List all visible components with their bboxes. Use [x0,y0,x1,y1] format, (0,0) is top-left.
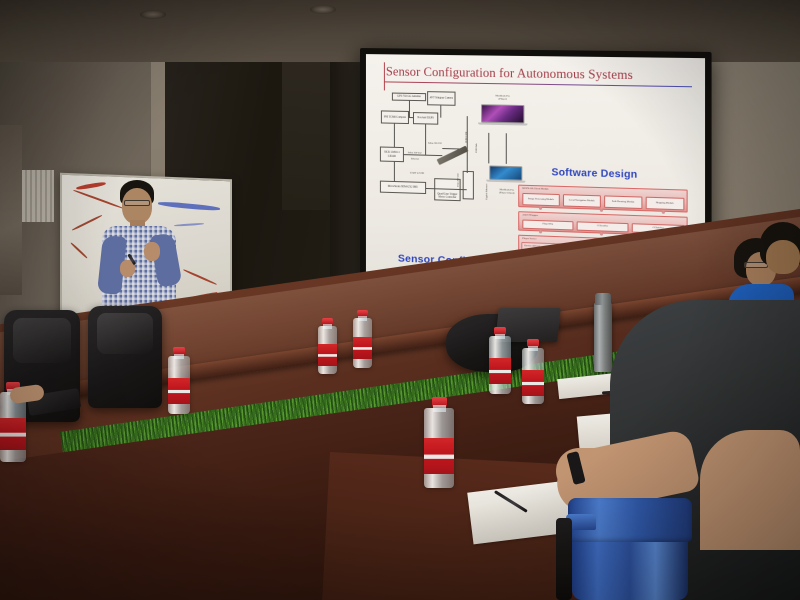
layer-title: MATLAB Client Module [522,187,548,191]
bottle-label [424,438,454,474]
laptop-base [478,123,528,126]
macbook-pro-player-client [489,165,522,186]
link-label: UART to USB [410,171,424,174]
slide-title: Sensor Configuration for Autonomous Syst… [386,64,633,83]
bottle-label [522,370,544,396]
layer-connector-dot [600,209,603,212]
wall-stain [0,125,22,295]
link-label: Dlink RS-232 [457,173,460,187]
link-label: Ethernet [411,157,419,160]
presenter-glasses [124,200,150,206]
blue-tumbler[interactable] [572,508,688,600]
diagram-box-dgps: NovAtel DGPS [413,112,438,125]
diagram-box-aux [463,171,474,200]
water-bottle[interactable] [522,348,544,404]
link-label: USB Hub [475,143,478,153]
layer-connector-dot [539,230,542,233]
connector [394,124,395,147]
layer-matlab-client-module: MATLAB Client Module Image Processing Mo… [518,185,687,213]
connector-arrow [488,133,489,164]
presenter-head [122,188,152,224]
link-label: IEEE 1394 [465,132,468,143]
connector [404,154,442,156]
laptop-label-line2: (Player) [499,97,507,100]
layer-connector-dot [662,211,665,214]
water-bottle[interactable] [168,356,190,414]
attendee-foreground-arm-lower [700,430,800,550]
diagram-box-compass: PNI TCM6 Compass [381,110,409,124]
module-image-processing: Image Processing Module [522,193,560,206]
diagram-box-lidar: SICK LMS111 LIDAR [380,146,404,162]
module-cclientser: CClientSer [577,221,629,232]
connector-arrow [506,133,507,164]
tumbler-strap [556,518,572,600]
link-label-text: USB Hub [475,143,478,153]
connector [440,106,441,118]
connector [409,117,413,118]
layer-connector-dot [600,232,603,235]
ceiling-downlight [140,10,166,19]
connector [467,116,468,173]
presenter-right-hand [144,242,160,261]
water-bottle[interactable] [318,326,337,374]
bottle-label [318,344,337,366]
water-bottle[interactable] [353,318,372,368]
software-design-caption: Software Design [551,167,637,181]
ceiling-downlight [310,5,336,14]
laptop-screen [481,104,524,123]
layer-connector-dot [539,207,542,210]
module-mapping: Mapping Module [646,197,685,211]
module-local-navigation: Local Navigation Module [563,194,601,208]
layer-title: JAUS Wrapper [522,214,538,218]
laptop-label-line2: (Player Client) [499,191,514,195]
module-path-planning: Path Planning Module [604,195,642,209]
module-playerwin: PlayerWin [522,219,573,230]
link-label-text: IEEE 1394 [465,132,468,143]
bottle-label [168,378,190,404]
connector [409,101,410,117]
macbook-player-label: MacBook Pro (Player) [481,94,524,101]
office-chair[interactable] [88,306,162,408]
attendee-head [766,240,800,274]
connector [394,162,395,181]
bottle-label [489,358,511,384]
whiteboard-ink-red [70,242,88,259]
diagram-box-imu: MicroStrain 3DM-GX2 IMU [380,181,426,194]
link-label-text: Dlink RS-232 [457,173,460,187]
connector [425,124,426,154]
bottle-label [353,337,372,359]
thermos-cap [595,293,611,305]
link-label: Inline RS-232 [428,142,442,145]
thermos[interactable] [594,302,612,372]
bottle-label [0,418,26,450]
photo-scene: Sensor Configuration for Autonomous Syst… [0,0,800,600]
water-bottle[interactable] [489,336,511,394]
link-label: Inline RS-232 [408,151,422,154]
water-bottle[interactable] [424,408,454,488]
laptop-screen [489,165,522,180]
laptop-base [487,180,525,183]
layer-title: Player Server [522,237,536,241]
title-underline [384,81,692,87]
radiator [22,170,54,222]
macbook-pro-player [481,104,524,131]
diagram-box-camera: AVT Stingray Camera [427,91,455,106]
